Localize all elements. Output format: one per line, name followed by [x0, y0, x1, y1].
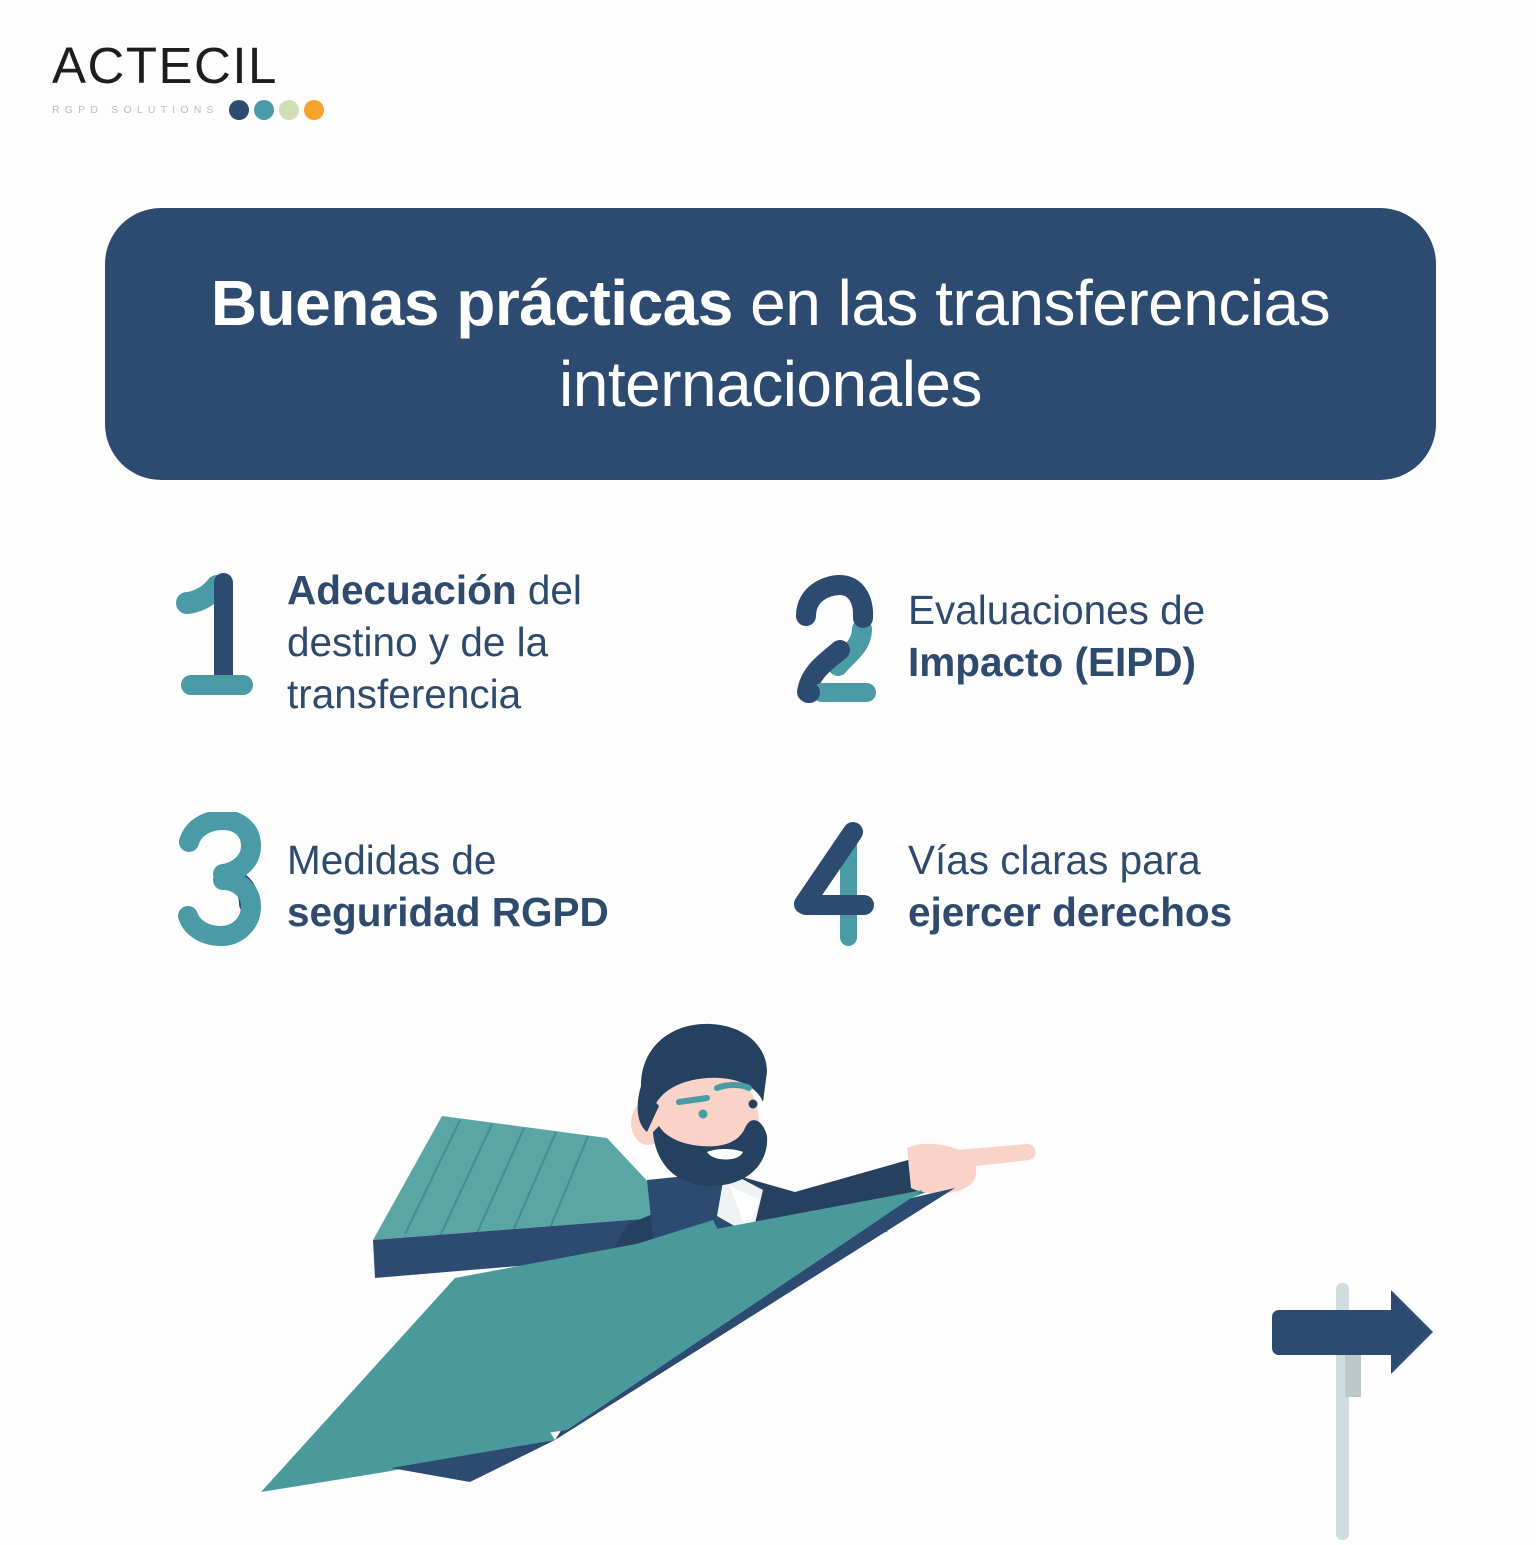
- item2-line2-bold: Impacto (EIPD): [908, 636, 1205, 688]
- best-practices-list: Adecuación del destino y de la transfere…: [175, 556, 1395, 961]
- logo-dot-navy: [229, 100, 249, 120]
- list-item-1-text: Adecuación del destino y de la transfere…: [287, 556, 582, 721]
- businessman-head: [631, 1024, 767, 1186]
- numeral-3: [175, 806, 287, 952]
- item1-line3: transferencia: [287, 668, 582, 720]
- item1-line2: destino y de la: [287, 616, 582, 668]
- item1-line1-bold: Adecuación: [287, 567, 517, 613]
- list-item-3: Medidas de seguridad RGPD: [175, 806, 790, 961]
- item4-line2-bold: ejercer derechos: [908, 886, 1232, 938]
- title-bold-part: Buenas prácticas: [211, 267, 733, 339]
- logo-dot-orange: [304, 100, 324, 120]
- list-item-4: Vías claras para ejercer derechos: [790, 806, 1395, 961]
- logo-wordmark: ACTECIL: [52, 40, 372, 91]
- numeral-4: [790, 806, 908, 961]
- list-item-2: Evaluaciones de Impacto (EIPD): [790, 556, 1395, 806]
- item4-line1: Vías claras para: [908, 834, 1232, 886]
- numeral-1: [175, 556, 287, 706]
- businessman-riding-paper-airplane-illustration: [255, 1020, 1115, 1520]
- list-item-1: Adecuación del destino y de la transfere…: [175, 556, 790, 806]
- direction-signpost: [1248, 1255, 1488, 1540]
- item3-line1: Medidas de: [287, 834, 609, 886]
- logo-tagline: RGPD SOLUTIONS: [52, 104, 219, 116]
- brand-logo: ACTECIL RGPD SOLUTIONS: [52, 40, 372, 120]
- list-item-2-text: Evaluaciones de Impacto (EIPD): [908, 556, 1205, 688]
- item2-line1: Evaluaciones de: [908, 584, 1205, 636]
- logo-dot-green: [279, 100, 299, 120]
- logo-tagline-row: RGPD SOLUTIONS: [52, 100, 372, 120]
- list-item-3-text: Medidas de seguridad RGPD: [287, 806, 609, 938]
- pointing-hand: [907, 1144, 1036, 1194]
- item1-line1-rest: del: [517, 567, 582, 613]
- list-item-4-text: Vías claras para ejercer derechos: [908, 806, 1232, 938]
- item3-line2-bold: seguridad RGPD: [287, 886, 609, 938]
- title-banner: Buenas prácticas en las transferencias i…: [105, 208, 1436, 480]
- page-title: Buenas prácticas en las transferencias i…: [105, 263, 1436, 424]
- numeral-2: [790, 556, 908, 714]
- logo-dot-teal: [254, 100, 274, 120]
- logo-dot-group: [229, 100, 324, 120]
